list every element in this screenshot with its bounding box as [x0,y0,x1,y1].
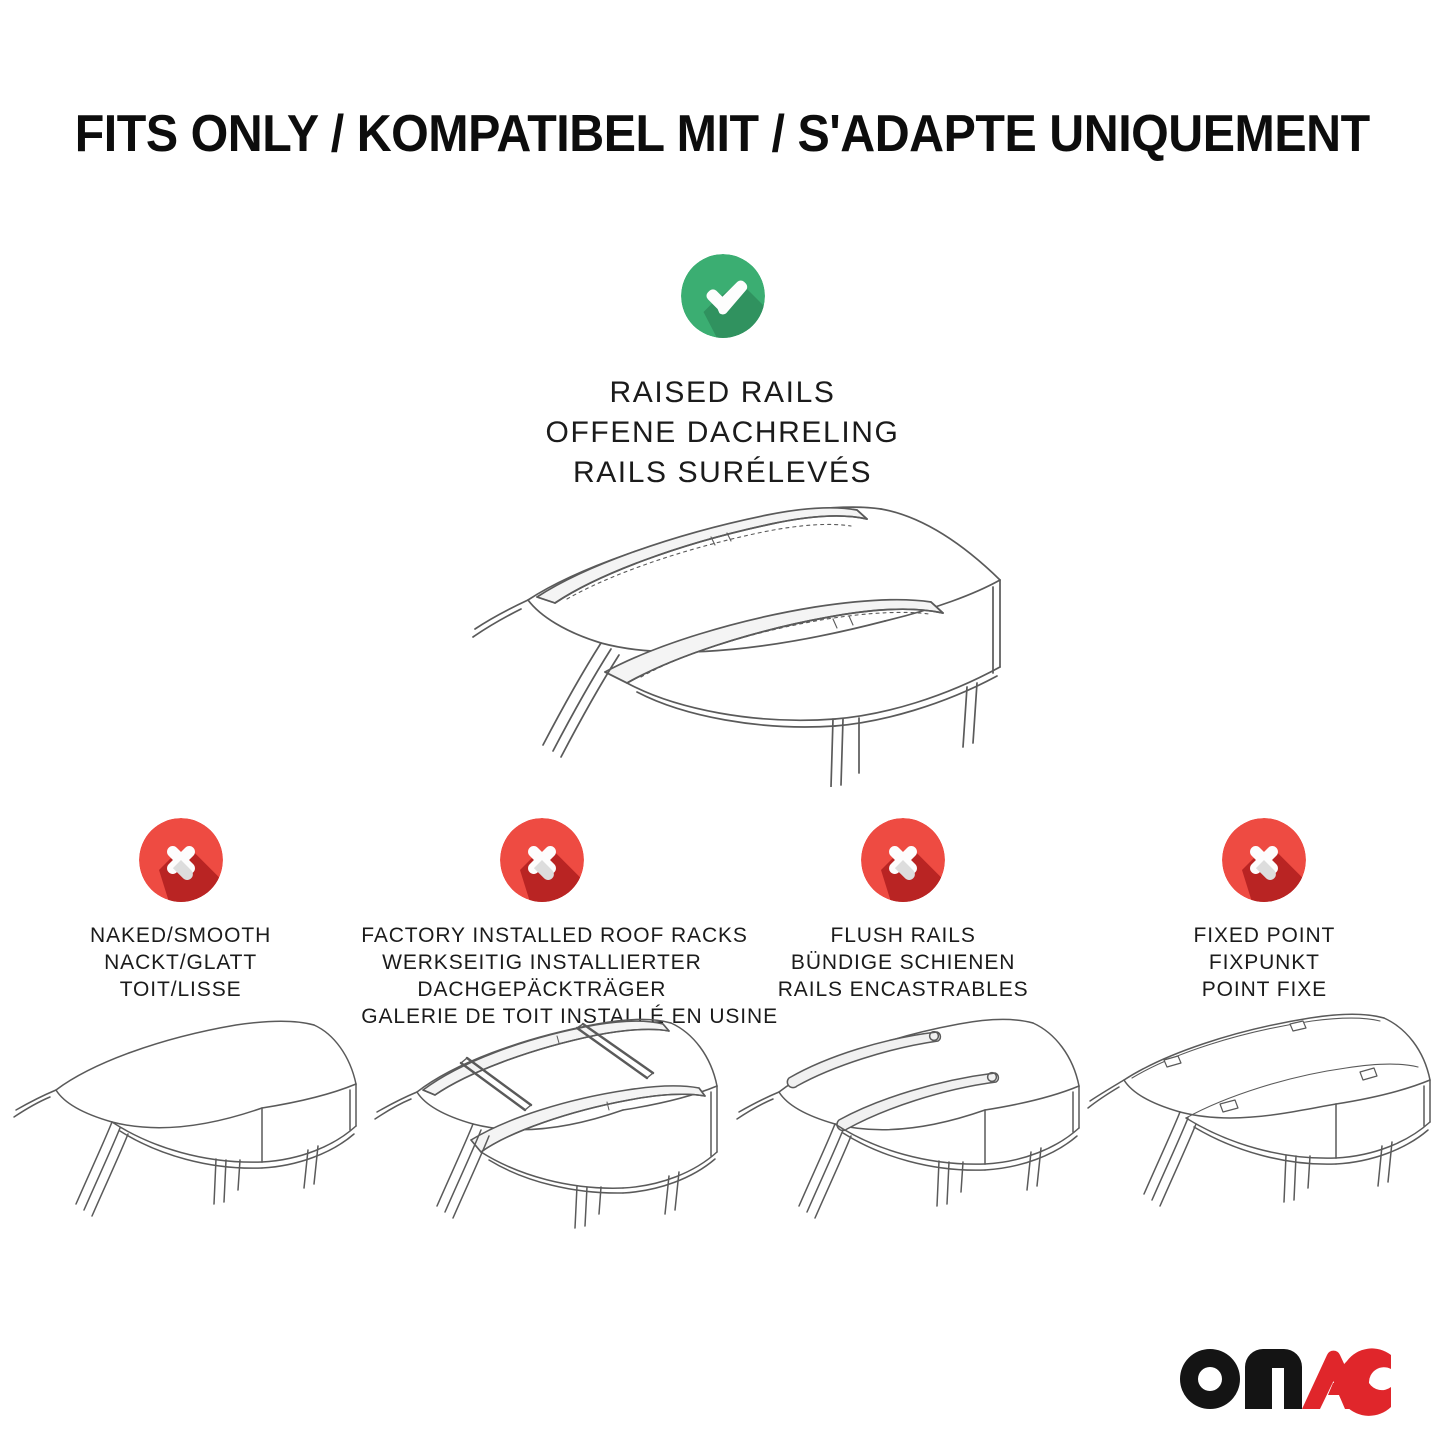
car-roof-factory-installed-roof-racks-illustration [361,1000,722,1230]
cross-circle-icon [139,818,223,902]
car-roof-naked-smooth-illustration [0,1008,361,1228]
rejected-labels-naked-smooth: NAKED/SMOOTH NACKT/GLATT TOIT/LISSE [0,923,361,1004]
rejected-label-en: FLUSH RAILS [723,923,1084,950]
rejected-label-de: NACKT/GLATT [0,950,361,977]
rejected-label-fr: TOIT/LISSE [0,977,361,1004]
rejected-labels-flush-rails: FLUSH RAILS BÜNDIGE SCHIENEN RAILS ENCAS… [723,923,1084,1004]
rejected-label-en: NAKED/SMOOTH [0,923,361,950]
rejected-column-flush-rails: FLUSH RAILS BÜNDIGE SCHIENEN RAILS ENCAS… [723,818,1084,1031]
approved-label-fr: RAILS SURÉLEVÉS [0,453,1445,493]
approved-label-en: RAISED RAILS [0,373,1445,413]
omac-logo [1177,1343,1393,1419]
page-title: FITS ONLY / KOMPATIBEL MIT / S'ADAPTE UN… [0,104,1445,164]
cross-circle-icon [861,818,945,902]
car-roof-flush-rails-illustration [723,1000,1084,1230]
check-circle-icon [681,254,765,338]
approved-status-badge [681,254,765,338]
page-title-text: FITS ONLY / KOMPATIBEL MIT / S'ADAPTE UN… [75,104,1370,164]
car-roof-fixed-point-illustration [1084,1000,1445,1230]
cross-circle-icon [1222,818,1306,902]
rejected-types-row: NAKED/SMOOTH NACKT/GLATT TOIT/LISSE [0,818,1445,1031]
rejected-column-factory-roof-racks: FACTORY INSTALLED ROOF RACKS WERKSEITIG … [361,818,722,1031]
logo-letter-m [1245,1349,1302,1409]
approved-section: RAISED RAILS OFFENE DACHRELING RAILS SUR… [0,254,1445,494]
rejected-label-en: FIXED POINT [1084,923,1445,950]
car-roof-with-raised-rails-illustration [415,497,1030,787]
rejected-label-de: BÜNDIGE SCHIENEN [723,950,1084,977]
rejected-label-de: FIXPUNKT [1084,950,1445,977]
cross-circle-icon [500,818,584,902]
logo-letter-o [1180,1349,1240,1409]
rejected-column-naked-smooth: NAKED/SMOOTH NACKT/GLATT TOIT/LISSE [0,818,361,1031]
rejected-labels-fixed-point: FIXED POINT FIXPUNKT POINT FIXE [1084,923,1445,1004]
approved-labels: RAISED RAILS OFFENE DACHRELING RAILS SUR… [0,373,1445,494]
rejected-label-en: FACTORY INSTALLED ROOF RACKS [361,923,722,950]
rejected-label-de-1: WERKSEITIG INSTALLIERTER [361,950,722,977]
rejected-column-fixed-point: FIXED POINT FIXPUNKT POINT FIXE [1084,818,1445,1031]
approved-label-de: OFFENE DACHRELING [0,413,1445,453]
